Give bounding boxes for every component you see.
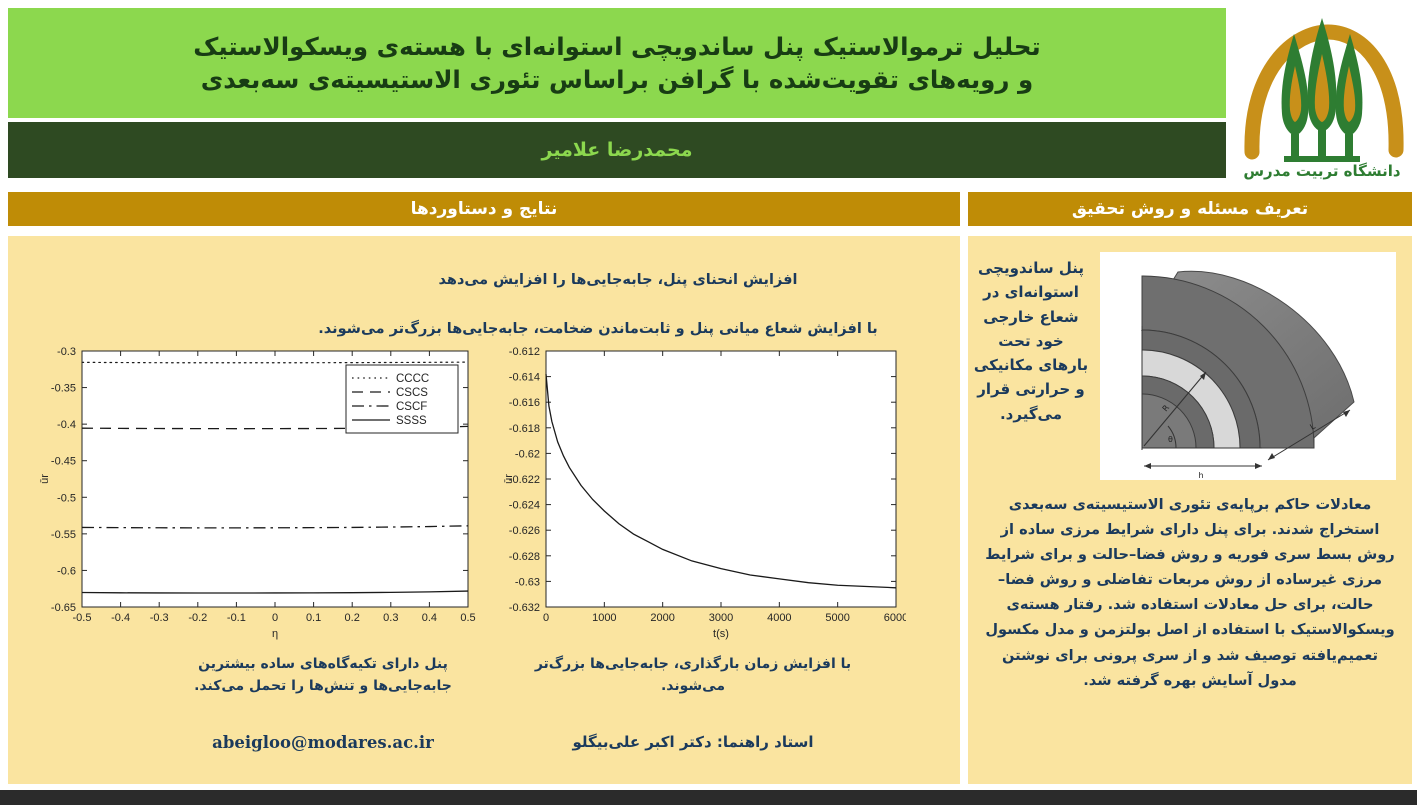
results-panel: افزایش انحنای پنل، جابه‌جایی‌ها را افزای… [8,236,960,784]
chart-displacement-vs-eta: -0.5-0.4-0.3-0.2-0.100.10.20.30.40.5-0.6… [30,341,480,641]
svg-text:-0.4: -0.4 [57,419,76,431]
svg-text:SSSS: SSSS [396,415,427,427]
svg-text:-0.616: -0.616 [509,397,540,409]
cylindrical-sandwich-panel-icon: R θ L [1100,252,1396,480]
chart-2-caption: با افزایش زمان بارگذاری، جابه‌جایی‌ها بز… [528,654,858,697]
svg-text:-0.65: -0.65 [51,602,76,614]
svg-text:-0.3: -0.3 [57,346,76,358]
svg-text:-0.3: -0.3 [150,612,169,624]
author-name: محمدرضا علامیر [542,139,693,161]
poster-title-line-1: تحلیل ترموالاستیک پنل ساندویچی استوانه‌ا… [193,30,1040,63]
svg-text:0.2: 0.2 [345,612,360,624]
svg-text:-0.624: -0.624 [509,500,540,512]
svg-text:CSCF: CSCF [396,401,427,413]
svg-text:ūr: ūr [503,474,515,484]
svg-text:-0.628: -0.628 [509,551,540,563]
svg-text:-0.55: -0.55 [51,529,76,541]
svg-text:-0.618: -0.618 [509,423,540,435]
svg-text:-0.62: -0.62 [515,448,540,460]
logo-caption-text: دانشگاه تربیت مدرس [1243,162,1401,180]
section-header-method-label: تعریف مسئله و روش تحقیق [1072,199,1308,219]
svg-text:0.4: 0.4 [422,612,437,624]
section-header-results: نتایج و دستاوردها [8,192,960,226]
poster-title-line-2: و رویه‌های تقویت‌شده با گرافن براساس تئو… [201,63,1034,96]
svg-text:η: η [272,628,278,640]
section-header-method: تعریف مسئله و روش تحقیق [968,192,1412,226]
svg-text:0.3: 0.3 [383,612,398,624]
svg-text:-0.6: -0.6 [57,565,76,577]
section-header-results-label: نتایج و دستاوردها [411,199,558,219]
svg-text:-0.35: -0.35 [51,383,76,395]
svg-text:0.5: 0.5 [460,612,475,624]
svg-text:-0.614: -0.614 [509,372,540,384]
panel-geometry-diagram: R θ L [1100,252,1396,480]
university-logo-icon: دانشگاه تربیت مدرس [1232,4,1412,180]
finding-text-1: افزایش انحنای پنل، جابه‌جایی‌ها را افزای… [308,272,928,288]
svg-text:2000: 2000 [650,612,674,624]
svg-text:0: 0 [272,612,278,624]
diagram-label-theta: θ [1168,435,1173,444]
chart-1-caption: پنل دارای تکیه‌گاه‌های ساده بیشترین جابه… [158,654,488,697]
svg-text:CCCC: CCCC [396,373,429,385]
svg-text:-0.63: -0.63 [515,576,540,588]
svg-text:CSCS: CSCS [396,387,428,399]
diagram-label-h: h [1198,471,1203,480]
method-body-text: معادلات حاکم برپایه‌ی تئوری الاستیسیته‌ی… [982,492,1398,693]
chart-2-svg: 0100020003000400050006000-0.632-0.63-0.6… [486,341,906,641]
finding-text-2: با افزایش شعاع میانی پنل و ثابت‌ماندن ضخ… [268,321,928,337]
poster-title-band: تحلیل ترموالاستیک پنل ساندویچی استوانه‌ا… [8,8,1226,118]
svg-text:-0.632: -0.632 [509,602,540,614]
university-logo: دانشگاه تربیت مدرس [1232,4,1412,180]
svg-text:-0.612: -0.612 [509,346,540,358]
svg-text:6000: 6000 [884,612,906,624]
svg-text:5000: 5000 [825,612,849,624]
svg-text:ūr: ūr [39,474,51,484]
svg-text:t(s): t(s) [713,628,729,640]
svg-text:-0.1: -0.1 [227,612,246,624]
svg-text:-0.626: -0.626 [509,525,540,537]
svg-text:3000: 3000 [709,612,733,624]
svg-text:-0.5: -0.5 [57,492,76,504]
method-blurb: پنل ساندویچی استوانه‌ای در شعاع خارجی خو… [968,250,1100,488]
svg-text:0.1: 0.1 [306,612,321,624]
chart-displacement-vs-time: 0100020003000400050006000-0.632-0.63-0.6… [486,341,906,641]
method-panel: پنل ساندویچی استوانه‌ای در شعاع خارجی خو… [968,236,1412,784]
svg-text:1000: 1000 [592,612,616,624]
poster-bottom-bar [0,790,1417,805]
method-top-row: پنل ساندویچی استوانه‌ای در شعاع خارجی خو… [968,250,1412,488]
contact-email[interactable]: abeigloo@modares.ac.ir [158,733,488,752]
chart-1-svg: -0.5-0.4-0.3-0.2-0.100.10.20.30.40.5-0.6… [30,341,480,641]
poster-author-band: محمدرضا علامیر [8,122,1226,178]
supervisor-line: استاد راهنما: دکتر اکبر علی‌بیگلو [528,733,858,751]
poster-root: تحلیل ترموالاستیک پنل ساندویچی استوانه‌ا… [0,0,1417,805]
svg-text:4000: 4000 [767,612,791,624]
svg-text:-0.45: -0.45 [51,456,76,468]
svg-text:0: 0 [543,612,549,624]
svg-text:-0.2: -0.2 [188,612,207,624]
svg-text:-0.4: -0.4 [111,612,130,624]
